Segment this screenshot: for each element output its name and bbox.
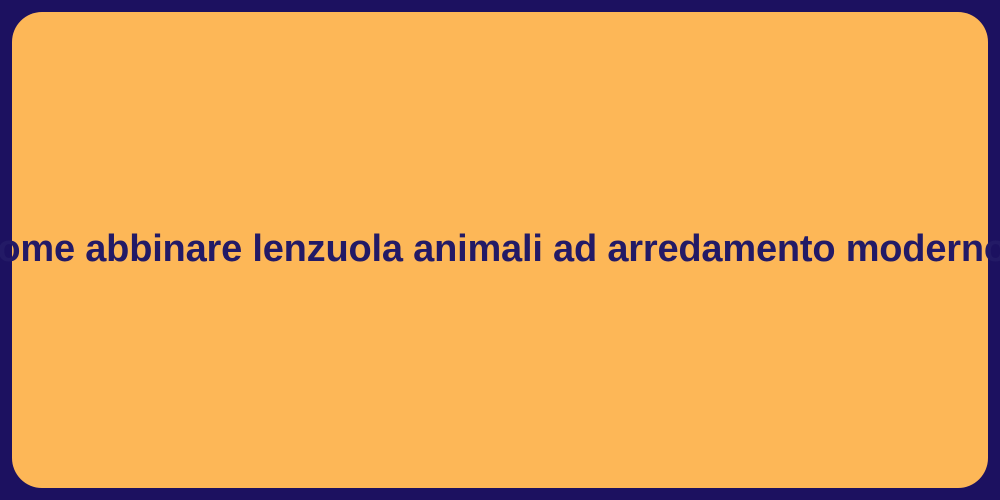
card-frame: Come abbinare lenzuola animali ad arreda… [0,0,1000,500]
page-title: Come abbinare lenzuola animali ad arreda… [0,226,1000,274]
card-panel: Come abbinare lenzuola animali ad arreda… [12,12,988,488]
